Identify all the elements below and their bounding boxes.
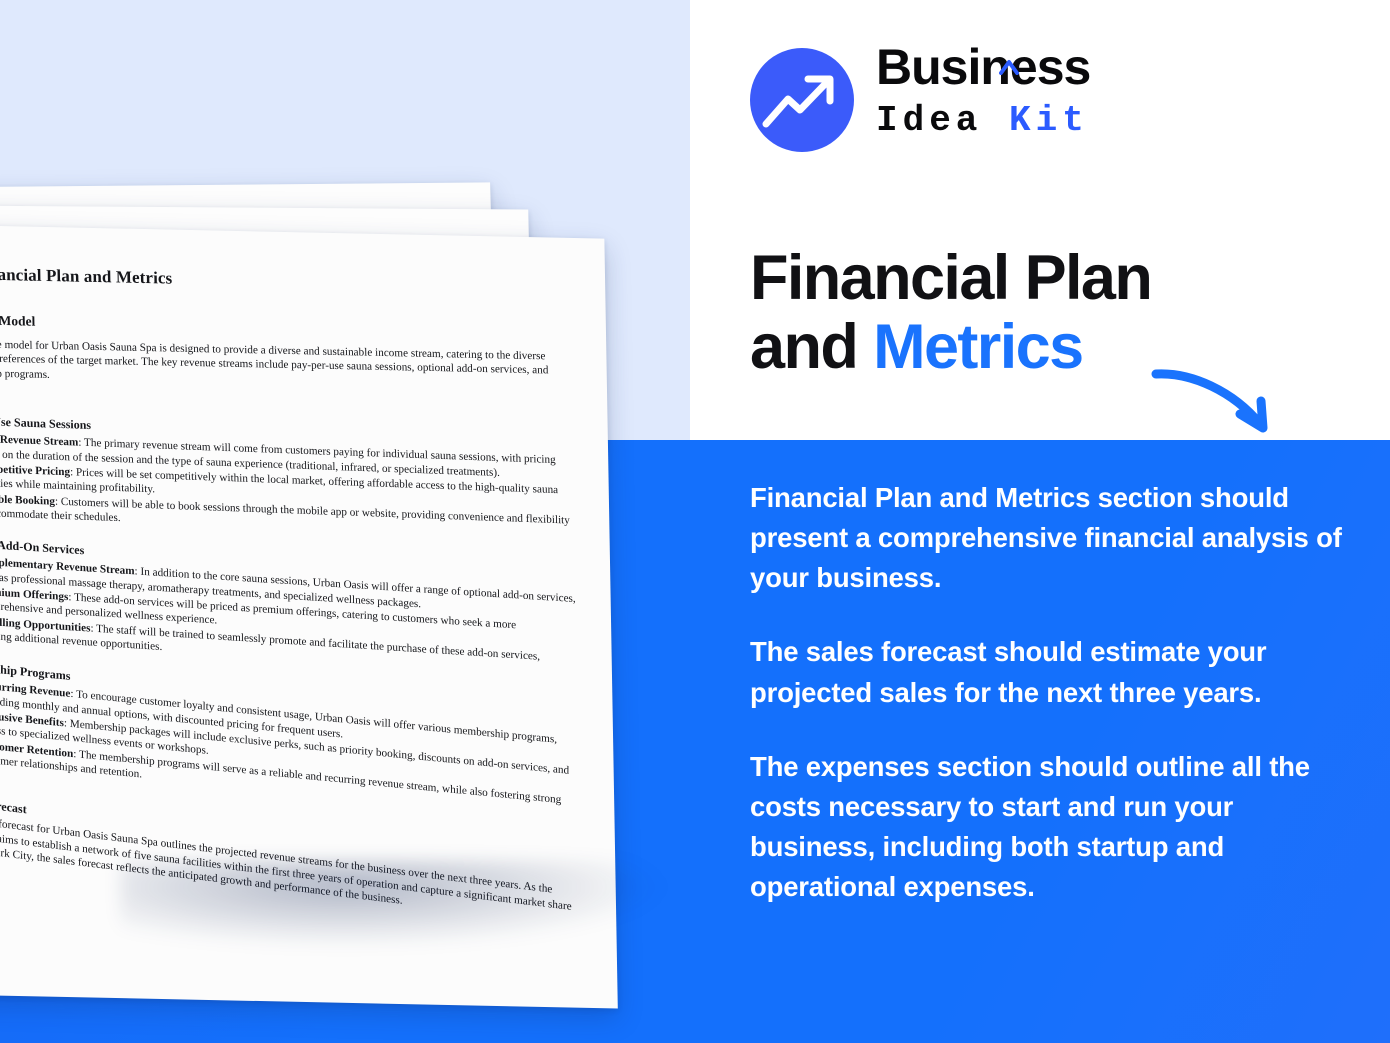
description-copy: Financial Plan and Metrics section shoul…	[750, 478, 1350, 907]
document-stack: VI. Financial Plan and Metrics Revenue M…	[0, 0, 760, 1043]
page-title-line1: Financial Plan	[750, 243, 1151, 313]
page-title-accent: Metrics	[873, 312, 1082, 382]
document-page-front[interactable]: VI. Financial Plan and Metrics Revenue M…	[0, 224, 618, 1009]
trend-arrow-circle-icon	[748, 46, 856, 154]
brand-business-text: Business	[876, 39, 1090, 95]
doc-title: VI. Financial Plan and Metrics	[0, 263, 571, 298]
list-item-label: Core Revenue Stream	[0, 433, 78, 449]
brand-logo[interactable]: Business Idea Kit	[748, 42, 1168, 164]
brand-kit-text: Kit	[1009, 100, 1089, 141]
slide-canvas: VI. Financial Plan and Metrics Revenue M…	[0, 0, 1390, 1043]
copy-paragraph-2: The sales forecast should estimate your …	[750, 632, 1350, 712]
brand-idea-text: Idea	[876, 100, 982, 141]
curved-down-right-arrow-icon	[1148, 348, 1288, 448]
page-title-and: and	[750, 312, 873, 382]
brand-wordmark: Business Idea Kit	[876, 42, 1090, 139]
brand-line-business: Business	[876, 42, 1090, 92]
brand-line-idea-kit: Idea Kit	[876, 103, 1090, 139]
doc-heading-revenue-model: Revenue Model	[0, 311, 572, 341]
circumflex-accent-icon	[999, 33, 1019, 49]
copy-paragraph-3: The expenses section should outline all …	[750, 747, 1350, 908]
copy-paragraph-1: Financial Plan and Metrics section shoul…	[750, 478, 1350, 598]
list-item-label: Competitive Pricing	[0, 463, 70, 479]
doc-paragraph-revenue-model: The revenue model for Urban Oasis Sauna …	[0, 337, 573, 393]
list-item-label: Flexible Booking	[0, 492, 55, 507]
